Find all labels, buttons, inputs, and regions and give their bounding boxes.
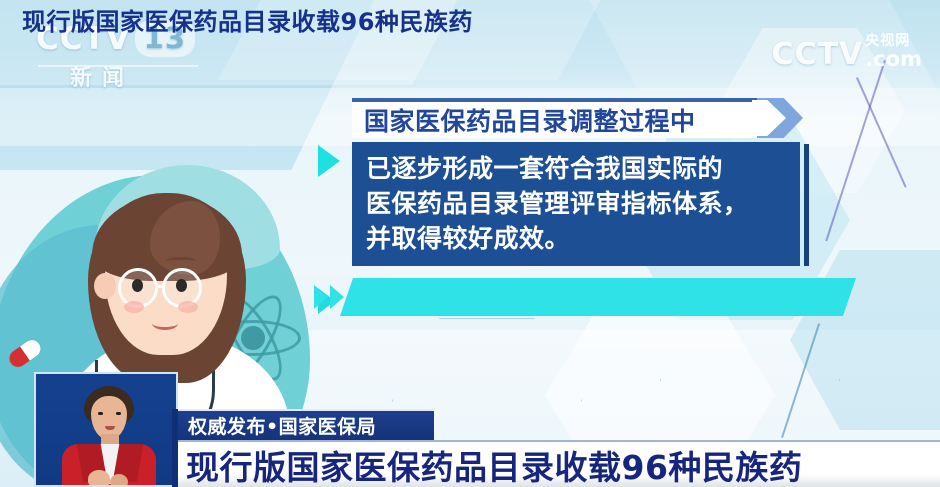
- lower-third-headline-text: 现行版国家医保药品目录收载96种民族药: [186, 441, 802, 487]
- cyan-play-triangle-icon: [318, 145, 340, 177]
- doctor-mouth: [152, 317, 178, 330]
- doctor-eye-left: [132, 279, 143, 292]
- lower-third-headline-bar: 现行版国家医保药品目录收载96种民族药: [178, 440, 940, 487]
- doctor-eyebrow-left: [122, 257, 152, 265]
- watermark-cctv-text: CCTV: [772, 37, 864, 72]
- cyan-banner-arrow-icon-1: [314, 285, 328, 309]
- watermark-com-text: .com: [865, 47, 922, 71]
- pip-interpreter-hand-right: [110, 474, 128, 487]
- lower-third-label: 权威发布•国家医保局: [178, 409, 434, 440]
- body-text-line-2: 医保药品目录管理评审指标体系，: [366, 188, 788, 220]
- cyan-banner-arrow-icon-2: [330, 285, 344, 309]
- doctor-eye-right: [176, 279, 187, 292]
- channel-logo-rule: [38, 65, 198, 67]
- doctor-cheek-right: [178, 301, 198, 313]
- body-text-block-accent-bar: [804, 144, 809, 266]
- cctv-watermark: CCTV 央视网 .com: [772, 30, 922, 72]
- cyan-banner: [340, 278, 856, 316]
- pip-interpreter-hand-left: [88, 470, 110, 487]
- sign-language-pip: [34, 372, 178, 487]
- body-text-line-3: 并取得较好成效。: [366, 223, 788, 255]
- doctor-cheek-left: [124, 301, 144, 313]
- body-text-line-1: 已逐步形成一套符合我国实际的: [366, 153, 788, 185]
- lower-third-label-text: 权威发布•国家医保局: [188, 412, 376, 439]
- headline-banner-text: 国家医保药品目录调整过程中: [364, 102, 764, 138]
- headline-banner: 国家医保药品目录调整过程中: [352, 98, 807, 138]
- cyan-banner-text: 现行版国家医保药品目录收载96种民族药: [22, 0, 473, 38]
- doctor-eyebrow-right: [166, 257, 196, 265]
- pip-interpreter-eye-right: [116, 412, 121, 415]
- body-text-block: 已逐步形成一套符合我国实际的 医保药品目录管理评审指标体系， 并取得较好成效。: [352, 142, 800, 266]
- doctor-ear: [94, 273, 116, 299]
- broadcast-screen: CCTV 13 新闻 CCTV 央视网 .com 国家医保药品目录调整过程中 已…: [0, 0, 940, 487]
- eyeglasses-bridge-icon: [157, 285, 165, 288]
- pip-interpreter-eye-left: [98, 412, 103, 415]
